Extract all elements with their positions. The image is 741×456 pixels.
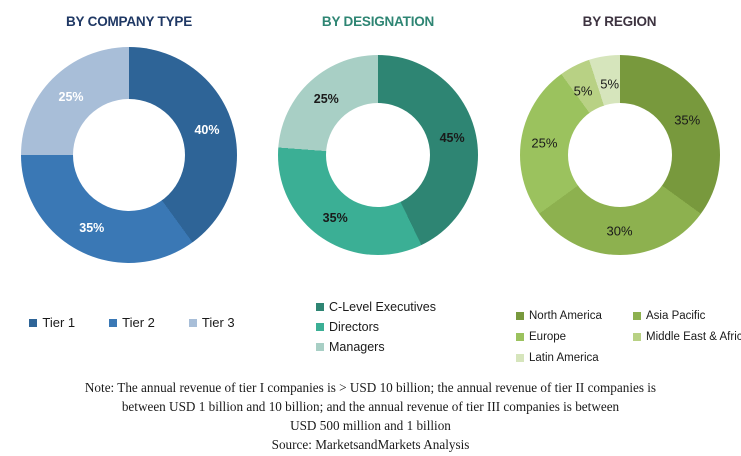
slice-label-latin-america: 5% [600, 76, 619, 91]
slice-label-north-america: 35% [674, 113, 700, 128]
legend-label: Asia Pacific [646, 310, 705, 322]
breakdown-of-primaries-figure: BY COMPANY TYPE 40%35%25% Tier 1Tier 2Ti… [0, 0, 741, 456]
legend-swatch-icon [633, 333, 641, 341]
legend-item-middle-east-africa[interactable]: Middle East & Africa [633, 331, 741, 343]
donut-chart-designation: 45%35%25% [278, 55, 478, 255]
slice-label-tier-1: 40% [194, 123, 219, 137]
legend-item-north-america[interactable]: North America [516, 310, 633, 322]
note-line-3: USD 500 million and 1 billion [0, 416, 741, 435]
legend-swatch-icon [316, 343, 324, 351]
legend-label: C-Level Executives [329, 300, 436, 314]
legend-item-latin-america[interactable]: Latin America [516, 352, 633, 364]
slice-label-directors: 35% [323, 211, 348, 225]
slice-label-asia-pacific: 30% [606, 224, 632, 239]
legend-swatch-icon [29, 319, 37, 327]
legend-company-type: Tier 1Tier 2Tier 3 [0, 315, 258, 330]
donut-hole-region [568, 103, 672, 207]
slice-label-tier-2: 35% [79, 221, 104, 235]
legend-label: Europe [529, 331, 566, 343]
legend-swatch-icon [516, 354, 524, 362]
legend-region: North AmericaAsia PacificEuropeMiddle Ea… [498, 310, 741, 364]
legend-item-tier-3[interactable]: Tier 3 [189, 315, 235, 330]
legend-item-tier-2[interactable]: Tier 2 [109, 315, 155, 330]
chart-title-region: BY REGION [498, 14, 741, 29]
chart-title-company-type: BY COMPANY TYPE [0, 14, 258, 29]
legend-label: Tier 3 [202, 315, 235, 330]
legend-swatch-icon [316, 303, 324, 311]
donut-ring-region: 35%30%25%5%5% [520, 55, 720, 255]
slice-label-c-level-executives: 45% [440, 131, 465, 145]
slice-label-europe: 25% [531, 136, 557, 151]
legend-item-tier-1[interactable]: Tier 1 [29, 315, 75, 330]
legend-swatch-icon [516, 312, 524, 320]
donut-ring-designation: 45%35%25% [278, 55, 478, 255]
legend-swatch-icon [109, 319, 117, 327]
slice-label-tier-3: 25% [59, 90, 84, 104]
legend-swatch-icon [516, 333, 524, 341]
donut-hole-designation [326, 103, 430, 207]
legend-label: Latin America [529, 352, 599, 364]
slice-label-managers: 25% [314, 92, 339, 106]
legend-swatch-icon [316, 323, 324, 331]
chart-title-designation: BY DESIGNATION [258, 14, 498, 29]
legend-swatch-icon [633, 312, 641, 320]
legend-label: Tier 1 [42, 315, 75, 330]
donut-chart-company-type: 40%35%25% [21, 47, 237, 263]
donut-chart-region: 35%30%25%5%5% [520, 55, 720, 255]
donut-hole-company-type [73, 99, 185, 211]
legend-label: Directors [329, 320, 379, 334]
legend-item-europe[interactable]: Europe [516, 331, 633, 343]
note-line-2: between USD 1 billion and 10 billion; an… [0, 397, 741, 416]
slice-label-middle-east-africa: 5% [574, 84, 593, 99]
legend-designation: C-Level ExecutivesDirectorsManagers [258, 300, 498, 360]
donut-ring-company-type: 40%35%25% [21, 47, 237, 263]
chart-panel-designation: BY DESIGNATION 45%35%25% C-Level Executi… [258, 0, 498, 372]
legend-label: Managers [329, 340, 385, 354]
chart-panel-company-type: BY COMPANY TYPE 40%35%25% Tier 1Tier 2Ti… [0, 0, 258, 372]
legend-swatch-icon [189, 319, 197, 327]
legend-item-c-level-executives[interactable]: C-Level Executives [316, 300, 498, 314]
legend-label: North America [529, 310, 602, 322]
chart-panel-region: BY REGION 35%30%25%5%5% North AmericaAsi… [498, 0, 741, 372]
legend-item-managers[interactable]: Managers [316, 340, 498, 354]
legend-item-asia-pacific[interactable]: Asia Pacific [633, 310, 741, 322]
legend-label: Tier 2 [122, 315, 155, 330]
legend-label: Middle East & Africa [646, 331, 741, 343]
note-source: Source: MarketsandMarkets Analysis [0, 435, 741, 454]
legend-item-directors[interactable]: Directors [316, 320, 498, 334]
note-block: Note: The annual revenue of tier I compa… [0, 378, 741, 454]
note-line-1: Note: The annual revenue of tier I compa… [0, 378, 741, 397]
